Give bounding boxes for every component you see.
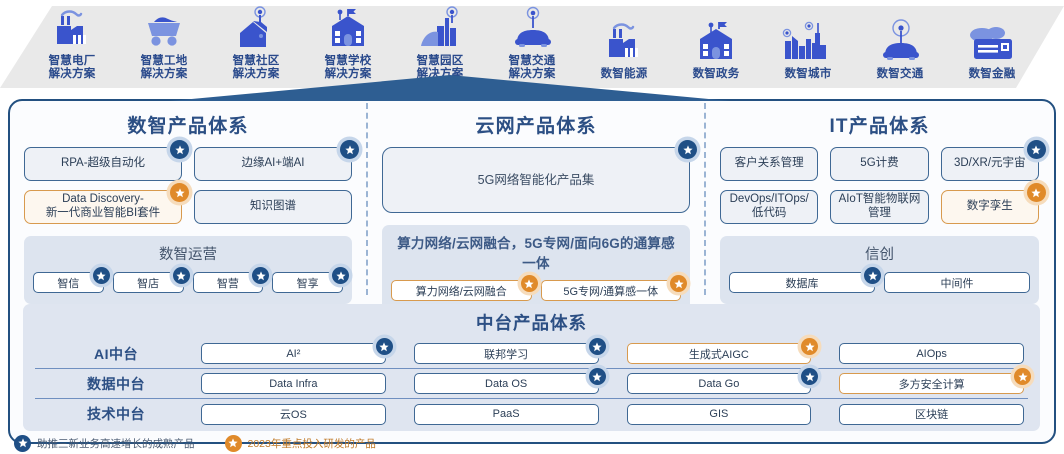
solution-item-9[interactable]: 数智城市 (762, 19, 854, 82)
solution-label: 智慧工地 解决方案 (141, 55, 188, 82)
chip-label: 智信 (57, 275, 79, 291)
subpanel-shuzhi-yunying: 数智运营 智信智店智营智享 (24, 236, 352, 304)
chip-label: 数据库 (786, 275, 819, 291)
tile-label: 边缘AI+端AI (242, 157, 305, 171)
star-badge-blue-icon (376, 338, 393, 355)
solution-item-10[interactable]: 数智交通 (854, 19, 946, 82)
solution-item-11[interactable]: 数智金融 (946, 19, 1038, 82)
legend: 助推三新业务高速增长的成熟产品2023年重点投入研发的产品 (14, 433, 376, 453)
shuzhi-tile-2[interactable]: 边缘AI+端AI (194, 147, 352, 181)
column-it: IT产品体系 客户关系管理5G计费3D/XR/元宇宙DevOps/ITOps/ … (706, 103, 1053, 295)
star-badge-blue-icon (252, 267, 269, 284)
star-badge-orange-icon (1027, 183, 1046, 202)
zhongtai-cell-label: 云OS (280, 406, 307, 422)
zhongtai-cell-label: 生成式AIGC (689, 346, 749, 362)
chip-label: 5G专网/通算感一体 (563, 283, 658, 299)
shuzhi-tile-1[interactable]: RPA-超级自动化 (24, 147, 182, 181)
star-badge-blue-icon (93, 267, 110, 284)
column-title-it: IT产品体系 (716, 111, 1043, 138)
star-badge-blue-icon (340, 140, 359, 159)
solution-label: 数智交通 (877, 68, 924, 82)
legend-item-2: 2023年重点投入研发的产品 (225, 435, 376, 452)
it-tile-4[interactable]: DevOps/ITOps/ 低代码 (720, 190, 818, 224)
zhongtai-cell-label: AIOps (916, 348, 947, 360)
product-system-panel: 数智产品体系 RPA-超级自动化边缘AI+端AIData Discovery- … (8, 99, 1056, 444)
star-badge-blue-icon (864, 267, 881, 284)
it-tile-2[interactable]: 5G计费 (830, 147, 928, 181)
column-yunwang: 云网产品体系 5G网络智能化产品集 算力网络/云网融合，5G专网/面向6G的通算… (366, 103, 706, 295)
infographic-root: 智慧电厂 解决方案智慧工地 解决方案智慧社区 解决方案智慧学校 解决方案智慧园区… (0, 0, 1064, 454)
tile-label: AIoT智能物联网管理 (837, 193, 921, 221)
star-badge-orange-icon (521, 275, 538, 292)
zhongtai-row-label: AI中台 (35, 344, 197, 364)
solution-label: 智慧园区 解决方案 (417, 55, 464, 82)
car-signal-icon (877, 19, 923, 65)
solution-item-6[interactable]: 智慧交通 解决方案 (486, 6, 578, 82)
shuzhi-chip-1[interactable]: 智信 (33, 272, 104, 293)
subpanel-yunwang: 算力网络/云网融合，5G专网/面向6G的通算感一体 算力网络/云网融合5G专网/… (382, 225, 690, 312)
car-antenna-icon (509, 6, 555, 52)
zhongtai-cell-3-3[interactable]: GIS (627, 404, 812, 425)
zhongtai-row-3: 技术中台云OSPaaSGIS区块链 (35, 399, 1028, 429)
shuzhi-chip-2[interactable]: 智店 (113, 272, 184, 293)
yunwang-chip-2[interactable]: 5G专网/通算感一体 (541, 280, 682, 301)
star-badge-blue-icon (589, 368, 606, 385)
tile-label: RPA-超级自动化 (61, 157, 145, 171)
tile-label: 客户关系管理 (735, 157, 804, 171)
tile-label: DevOps/ITOps/ 低代码 (730, 193, 809, 220)
solution-item-4[interactable]: 智慧学校 解决方案 (302, 6, 394, 82)
subpanel-xinchuang: 信创 数据库中间件 (720, 236, 1039, 304)
zhongtai-cell-1-2[interactable]: 联邦学习 (414, 343, 599, 364)
solution-item-1[interactable]: 智慧电厂 解决方案 (26, 6, 118, 82)
zhongtai-cell-2-1[interactable]: Data Infra (201, 373, 386, 394)
star-badge-orange-icon (170, 183, 189, 202)
zhongtai-row-cells: AI²联邦学习生成式AIGCAIOps (197, 343, 1028, 364)
zhongtai-cell-2-3[interactable]: Data Go (627, 373, 812, 394)
star-badge-orange-icon (801, 338, 818, 355)
industrial-park-icon (417, 6, 463, 52)
solution-label: 数智能源 (601, 68, 648, 82)
star-badge-blue-icon (170, 140, 189, 159)
chip-row-shuzhi-yunying: 智信智店智营智享 (33, 272, 343, 293)
tile-label: Data Discovery- 新一代商业智能BI套件 (46, 193, 160, 220)
star-badge-blue-icon (589, 338, 606, 355)
tile-label: 5G计费 (860, 157, 898, 171)
zhongtai-cell-1-4[interactable]: AIOps (839, 343, 1024, 364)
tile-label: 数字孪生 (967, 200, 1013, 214)
government-icon (692, 19, 740, 65)
solution-label: 智慧电厂 解决方案 (49, 55, 96, 82)
solution-item-2[interactable]: 智慧工地 解决方案 (118, 6, 210, 82)
chip-row-xinchuang: 数据库中间件 (729, 272, 1030, 293)
mine-cart-icon (141, 6, 187, 52)
star-badge-blue-icon (332, 267, 349, 284)
zhongtai-row-cells: Data InfraData OSData Go多方安全计算 (197, 373, 1028, 394)
zhongtai-cell-1-3[interactable]: 生成式AIGC (627, 343, 812, 364)
zhongtai-row-label: 技术中台 (35, 404, 197, 424)
product-columns: 数智产品体系 RPA-超级自动化边缘AI+端AIData Discovery- … (10, 103, 1053, 295)
zhongtai-row-2: 数据中台Data InfraData OSData Go多方安全计算 (35, 369, 1028, 399)
zhongtai-cell-label: AI² (286, 348, 300, 360)
subpanel-title-yunwang: 算力网络/云网融合，5G专网/面向6G的通算感一体 (391, 232, 681, 272)
chip-label: 算力网络/云网融合 (416, 283, 507, 299)
chip-label: 中间件 (941, 275, 974, 291)
shuzhi-chip-3[interactable]: 智营 (193, 272, 264, 293)
it-chip-2[interactable]: 中间件 (884, 272, 1030, 293)
credit-card-icon (966, 19, 1018, 65)
zhongtai-cell-label: 多方安全计算 (899, 376, 965, 392)
zhongtai-row-label: 数据中台 (35, 374, 197, 394)
star-badge-orange-icon (1014, 368, 1031, 385)
it-tile-6[interactable]: 数字孪生 (941, 190, 1039, 224)
solution-label: 数智政务 (693, 68, 740, 82)
tile-grid-it: 客户关系管理5G计费3D/XR/元宇宙DevOps/ITOps/ 低代码AIoT… (716, 147, 1043, 224)
shuzhi-tile-3[interactable]: Data Discovery- 新一代商业智能BI套件 (24, 190, 182, 224)
column-title-yunwang: 云网产品体系 (378, 111, 694, 138)
solution-label: 智慧交通 解决方案 (509, 55, 556, 82)
solution-item-8[interactable]: 数智政务 (670, 19, 762, 82)
zhongtai-cell-2-4[interactable]: 多方安全计算 (839, 373, 1024, 394)
zhongtai-cell-2-2[interactable]: Data OS (414, 373, 599, 394)
tile-grid-shuzhi: RPA-超级自动化边缘AI+端AIData Discovery- 新一代商业智能… (20, 147, 356, 224)
tile-label: 知识图谱 (250, 200, 296, 214)
chip-label: 智店 (137, 275, 159, 291)
yunwang-chip-1[interactable]: 算力网络/云网融合 (391, 280, 532, 301)
zhongtai-cell-label: Data Infra (269, 378, 317, 390)
star-badge-blue-icon (173, 267, 190, 284)
solutions-band: 智慧电厂 解决方案智慧工地 解决方案智慧社区 解决方案智慧学校 解决方案智慧园区… (0, 0, 1064, 88)
it-tile-1[interactable]: 客户关系管理 (720, 147, 818, 181)
column-title-shuzhi: 数智产品体系 (20, 111, 356, 138)
zhongtai-cell-label: Data OS (485, 378, 527, 390)
star-badge-orange-icon (670, 275, 687, 292)
tile-label: 5G网络智能化产品集 (478, 173, 595, 188)
zhongtai-title: 中台产品体系 (35, 310, 1028, 335)
zhongtai-cell-label: PaaS (493, 408, 520, 420)
city-skyline-icon (782, 19, 834, 65)
subpanel-title-shuzhi-yunying: 数智运营 (33, 243, 343, 264)
zhongtai-cell-label: Data Go (698, 378, 739, 390)
yunwang-tile-1[interactable]: 5G网络智能化产品集 (382, 147, 690, 213)
zhongtai-cell-label: GIS (709, 408, 728, 420)
zhongtai-row-1: AI中台AI²联邦学习生成式AIGCAIOps (35, 339, 1028, 369)
solution-label: 数智城市 (785, 68, 832, 82)
star-badge-orange (225, 435, 242, 452)
zhongtai-section: 中台产品体系 AI中台AI²联邦学习生成式AIGCAIOps数据中台Data I… (23, 304, 1040, 431)
shuzhi-tile-4[interactable]: 知识图谱 (194, 190, 352, 224)
power-plant-icon (49, 6, 95, 52)
tile-label: 3D/XR/元宇宙 (954, 157, 1026, 171)
zhongtai-cell-3-4[interactable]: 区块链 (839, 404, 1024, 425)
legend-item-1: 助推三新业务高速增长的成熟产品 (14, 435, 195, 452)
house-icon (233, 6, 279, 52)
factory-icon (601, 19, 647, 65)
legend-label: 2023年重点投入研发的产品 (248, 436, 376, 451)
subpanel-title-xinchuang: 信创 (729, 243, 1030, 264)
zhongtai-cell-label: 区块链 (915, 406, 948, 422)
it-tile-3[interactable]: 3D/XR/元宇宙 (941, 147, 1039, 181)
solution-item-7[interactable]: 数智能源 (578, 19, 670, 82)
zhongtai-cell-1-1[interactable]: AI² (201, 343, 386, 364)
chip-row-yunwang: 算力网络/云网融合5G专网/通算感一体 (391, 280, 681, 301)
star-badge-blue (14, 435, 31, 452)
solution-label: 智慧社区 解决方案 (233, 55, 280, 82)
solution-item-5[interactable]: 智慧园区 解决方案 (394, 6, 486, 82)
tile-grid-yunwang: 5G网络智能化产品集 (378, 147, 694, 213)
shuzhi-chip-4[interactable]: 智享 (272, 272, 343, 293)
zhongtai-row-cells: 云OSPaaSGIS区块链 (197, 404, 1028, 425)
star-badge-blue-icon (1027, 140, 1046, 159)
chip-label: 智享 (297, 275, 319, 291)
zhongtai-rows: AI中台AI²联邦学习生成式AIGCAIOps数据中台Data InfraDat… (35, 339, 1028, 429)
solution-label: 智慧学校 解决方案 (325, 55, 372, 82)
zhongtai-cell-label: 联邦学习 (484, 346, 528, 362)
solution-items: 智慧电厂 解决方案智慧工地 解决方案智慧社区 解决方案智慧学校 解决方案智慧园区… (0, 0, 1064, 88)
school-icon (324, 6, 372, 52)
solution-label: 数智金融 (969, 68, 1016, 82)
legend-label: 助推三新业务高速增长的成熟产品 (37, 436, 195, 451)
it-chip-1[interactable]: 数据库 (729, 272, 875, 293)
solution-item-3[interactable]: 智慧社区 解决方案 (210, 6, 302, 82)
chip-label: 智营 (217, 275, 239, 291)
star-badge-blue-icon (801, 368, 818, 385)
star-badge-blue-icon (678, 140, 697, 159)
column-shuzhi: 数智产品体系 RPA-超级自动化边缘AI+端AIData Discovery- … (10, 103, 366, 295)
zhongtai-cell-3-2[interactable]: PaaS (414, 404, 599, 425)
zhongtai-cell-3-1[interactable]: 云OS (201, 404, 386, 425)
it-tile-5[interactable]: AIoT智能物联网管理 (830, 190, 928, 224)
